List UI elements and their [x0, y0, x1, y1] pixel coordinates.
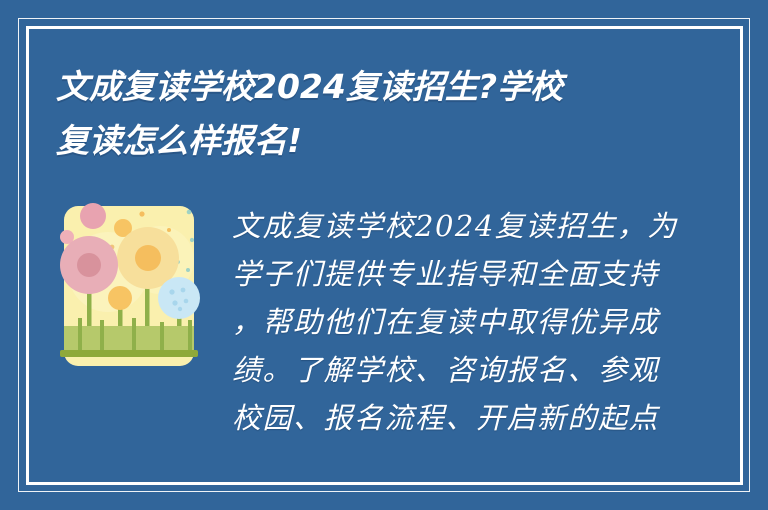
illustration-svg	[56, 200, 202, 372]
poster-title: 文成复读学校2024复读招生?学校 复读怎么样报名!	[56, 60, 696, 168]
title-line-2: 复读怎么样报名!	[56, 114, 696, 168]
title-line-1: 文成复读学校2024复读招生?学校	[56, 60, 696, 114]
grass-base	[60, 350, 198, 357]
body-line-2: 学子们提供专业指导和全面支持	[232, 250, 712, 298]
pink-flower-large-inner	[77, 253, 101, 277]
yellow-flower-large-inner	[135, 245, 161, 271]
blue-flower-outer	[158, 277, 200, 319]
pink-blossom-top	[80, 203, 106, 229]
poster-canvas: 文成复读学校2024复读招生?学校 复读怎么样报名!	[0, 0, 768, 510]
body-line-1: 文成复读学校2024复读招生，为	[232, 202, 712, 250]
body-line-4: 绩。了解学校、咨询报名、参观	[232, 346, 712, 394]
body-line-3: ，帮助他们在复读中取得优异成	[232, 298, 712, 346]
poster-body-text: 文成复读学校2024复读招生，为 学子们提供专业指导和全面支持 ，帮助他们在复读…	[232, 202, 712, 442]
dandelion-flowers-illustration	[56, 200, 202, 372]
content-row: 文成复读学校2024复读招生，为 学子们提供专业指导和全面支持 ，帮助他们在复读…	[56, 198, 716, 458]
orange-flower-small	[108, 286, 132, 310]
body-line-5: 校园、报名流程、开启新的起点	[232, 394, 712, 442]
